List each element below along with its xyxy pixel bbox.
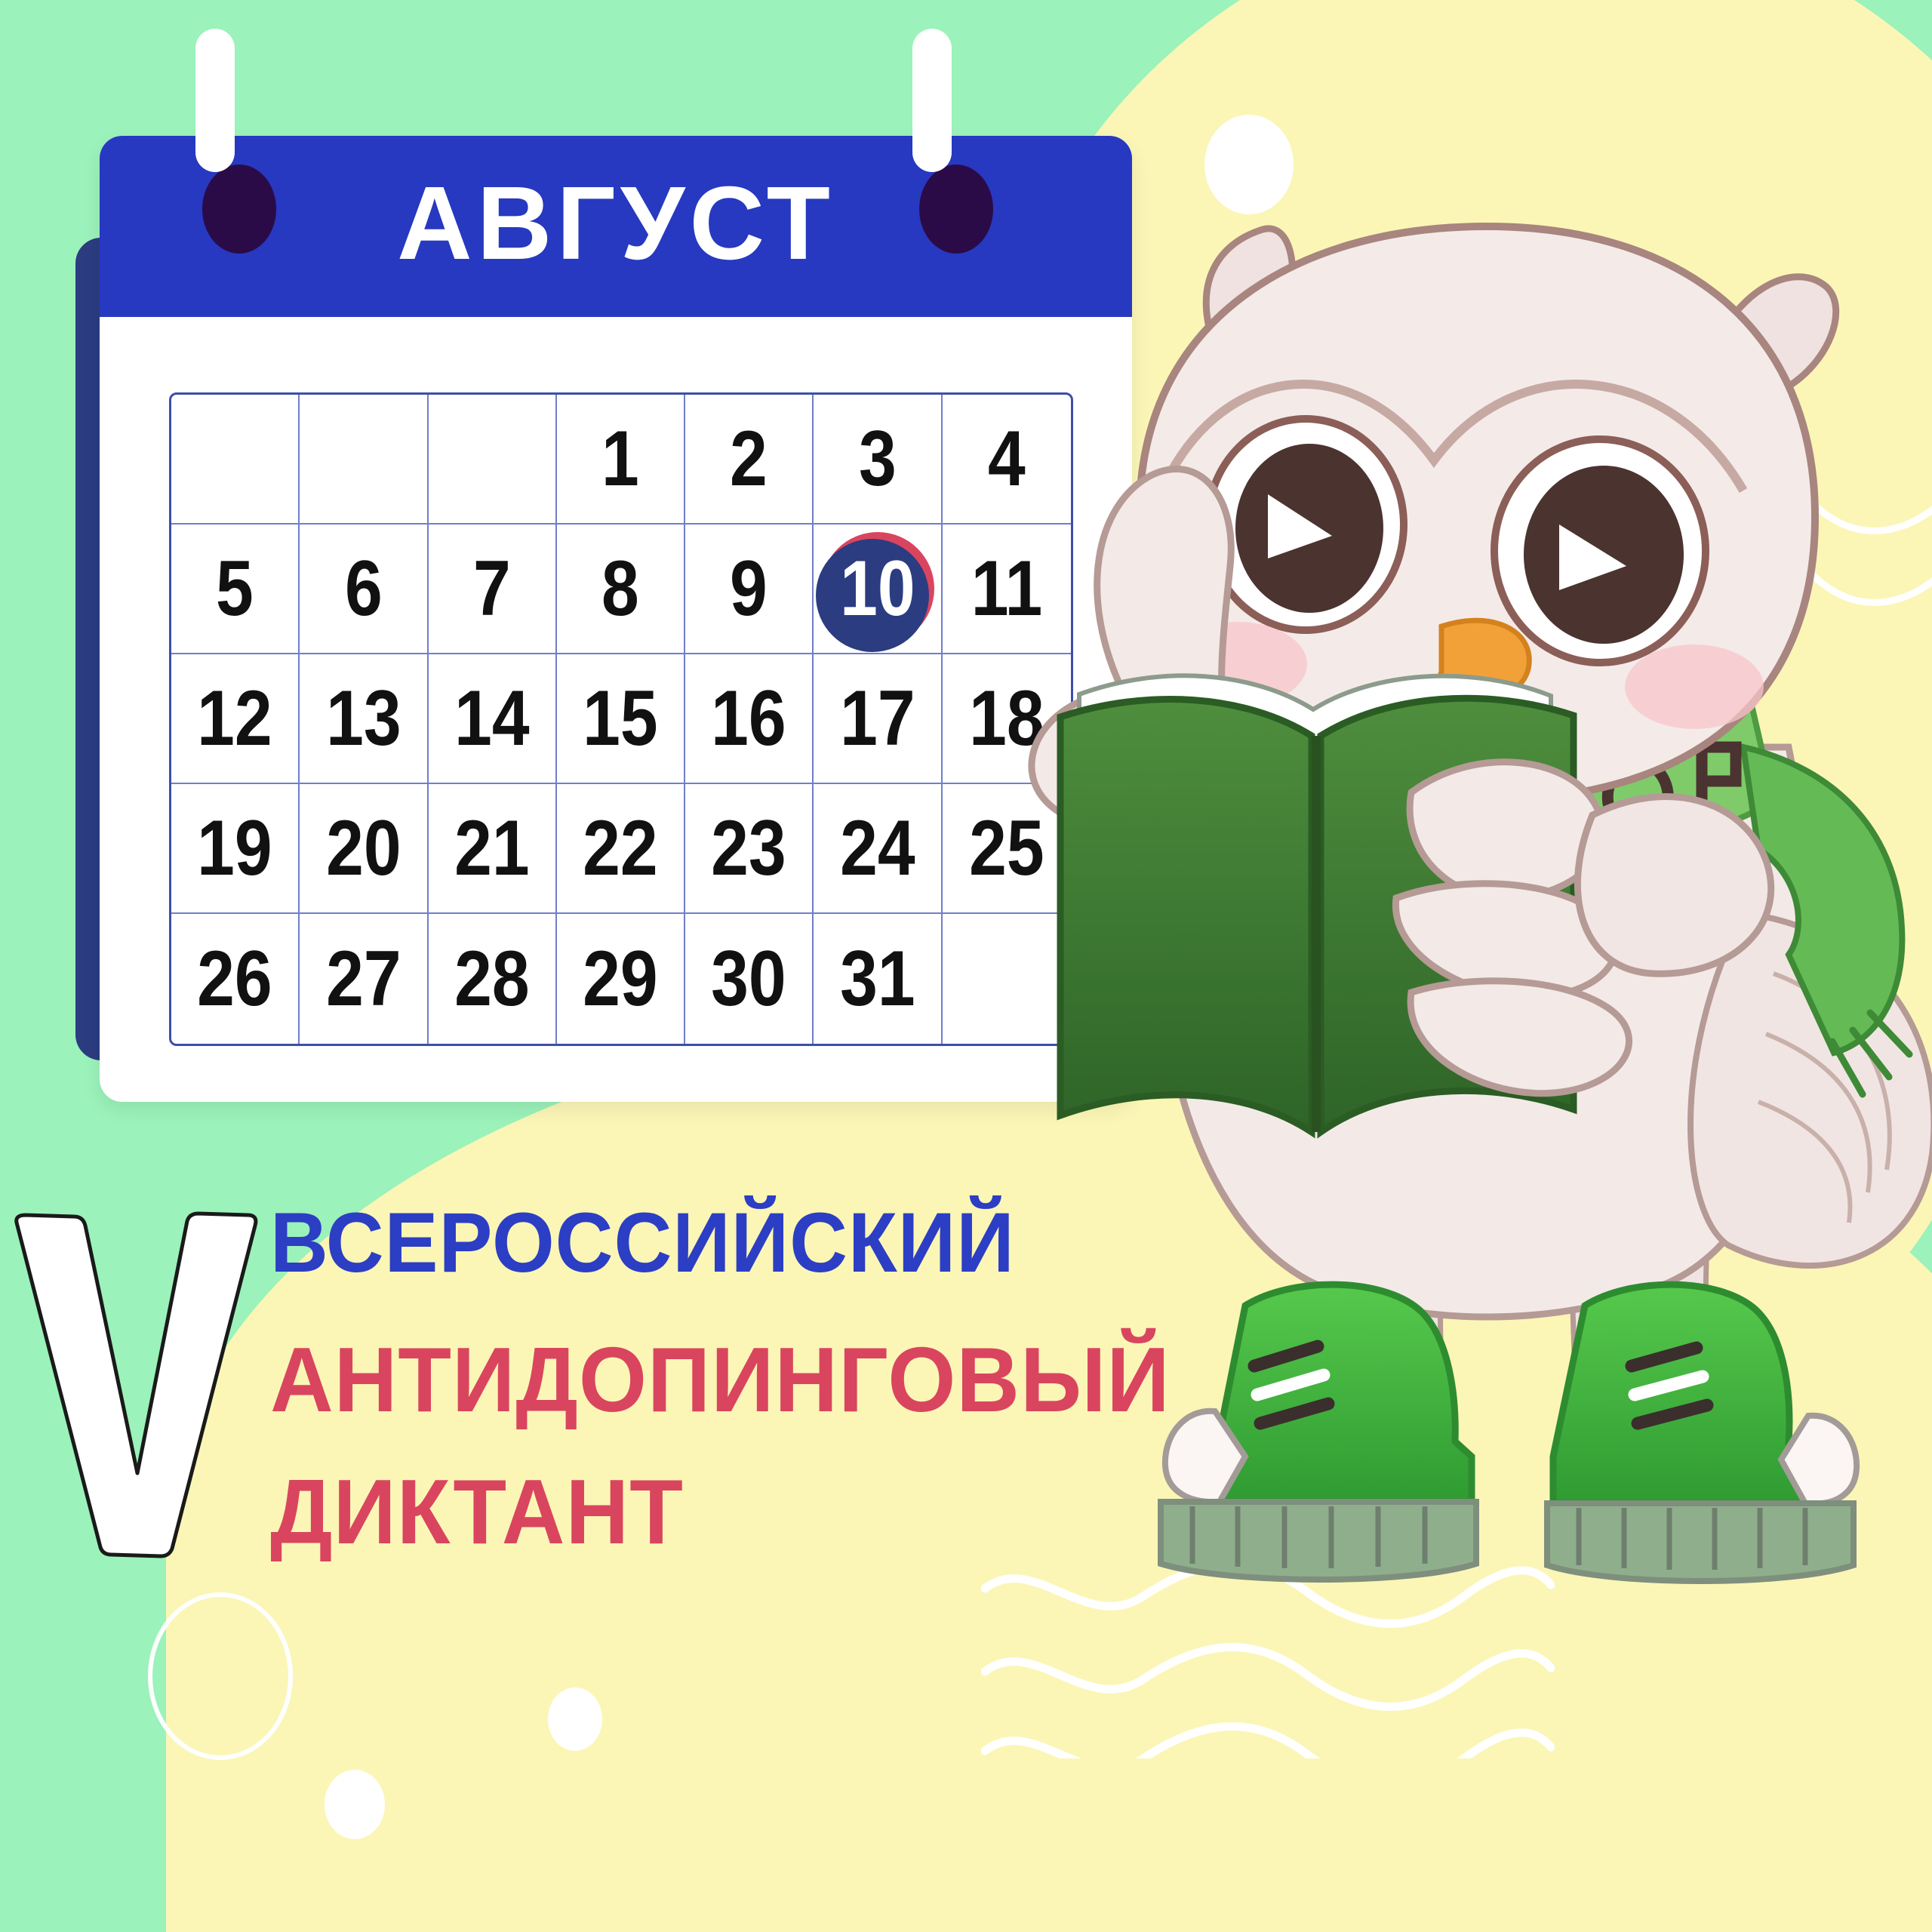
- owl-shoes: [1161, 1284, 1857, 1581]
- calendar-cell[interactable]: 6: [300, 525, 428, 654]
- day-number: 17: [840, 679, 915, 758]
- calendar-cell[interactable]: 1: [557, 395, 685, 525]
- calendar-body: АВГУСТ 1 2 3 4 5 6 7 8 9 10: [100, 136, 1132, 1102]
- day-number: 16: [712, 679, 786, 758]
- day-number: 3: [859, 420, 897, 498]
- day-number: 10: [840, 549, 915, 628]
- calendar-cell[interactable]: 28: [429, 914, 557, 1044]
- binder-ring-left: [195, 29, 235, 172]
- calendar-cell[interactable]: 3: [814, 395, 942, 525]
- day-number: 30: [712, 940, 786, 1018]
- decor-dot-bottom-left: [325, 1770, 385, 1839]
- calendar-cell-highlighted[interactable]: 10: [814, 525, 942, 654]
- calendar-cell[interactable]: 13: [300, 654, 428, 784]
- decor-dot-bottom-mid: [548, 1687, 602, 1751]
- day-number: 21: [454, 809, 529, 888]
- binder-hole-right: [919, 165, 993, 254]
- calendar-cell[interactable]: 21: [429, 784, 557, 914]
- day-number: 26: [197, 940, 272, 1018]
- calendar-cell[interactable]: 5: [171, 525, 300, 654]
- calendar-cell[interactable]: 17: [814, 654, 942, 784]
- day-number: 22: [583, 809, 657, 888]
- day-number: 1: [601, 420, 639, 498]
- calendar-cell[interactable]: 26: [171, 914, 300, 1044]
- roman-numeral-five: [8, 1207, 264, 1562]
- calendar-cell[interactable]: 20: [300, 784, 428, 914]
- day-number: 29: [583, 940, 657, 1018]
- calendar-cell[interactable]: [300, 395, 428, 525]
- day-number: 9: [730, 549, 768, 628]
- binder-ring-right: [912, 29, 952, 172]
- calendar-cell[interactable]: 14: [429, 654, 557, 784]
- headline-block: ВСЕРОССИЙСКИЙ АНТИДОПИНГОВЫЙ ДИКТАНТ: [270, 1200, 1221, 1558]
- decor-ring-bottom-left: [148, 1592, 293, 1760]
- day-number: 28: [454, 940, 529, 1018]
- day-number: 31: [840, 940, 915, 1018]
- calendar-cell[interactable]: 29: [557, 914, 685, 1044]
- calendar-cell[interactable]: [171, 395, 300, 525]
- calendar-cell[interactable]: 30: [685, 914, 814, 1044]
- day-number: 24: [840, 809, 915, 888]
- headline-line-1: ВСЕРОССИЙСКИЙ: [270, 1200, 1174, 1286]
- calendar-cell[interactable]: 24: [814, 784, 942, 914]
- calendar-cell[interactable]: 22: [557, 784, 685, 914]
- calendar-card: АВГУСТ 1 2 3 4 5 6 7 8 9 10: [75, 64, 1132, 1045]
- day-number: 20: [326, 809, 401, 888]
- day-number: 23: [712, 809, 786, 888]
- calendar-cell[interactable]: 27: [300, 914, 428, 1044]
- calendar-cell[interactable]: 2: [685, 395, 814, 525]
- day-number: 19: [197, 809, 272, 888]
- calendar-cell[interactable]: 31: [814, 914, 942, 1044]
- calendar-grid: 1 2 3 4 5 6 7 8 9 10 11 12 13 14 15: [169, 392, 1073, 1046]
- day-number: 6: [345, 549, 383, 628]
- calendar-cell[interactable]: 15: [557, 654, 685, 784]
- calendar-cell[interactable]: 9: [685, 525, 814, 654]
- calendar-header: АВГУСТ: [100, 136, 1132, 317]
- calendar-cell[interactable]: 12: [171, 654, 300, 784]
- headline-line-2: АНТИДОПИНГОВЫЙ: [270, 1333, 1174, 1426]
- calendar-cell[interactable]: 19: [171, 784, 300, 914]
- day-number: 27: [326, 940, 401, 1018]
- calendar-cell[interactable]: 16: [685, 654, 814, 784]
- headline-line-3: ДИКТАНТ: [270, 1465, 1174, 1558]
- calendar-cell[interactable]: [429, 395, 557, 525]
- calendar-month-label: АВГУСТ: [397, 171, 835, 275]
- day-number: 13: [326, 679, 401, 758]
- calendar-cell[interactable]: 23: [685, 784, 814, 914]
- owl-blush-right: [1625, 645, 1764, 729]
- poster-canvas: АВГУСТ 1 2 3 4 5 6 7 8 9 10: [0, 0, 1932, 1932]
- day-number: 5: [216, 549, 254, 628]
- day-number: 2: [730, 420, 768, 498]
- calendar-cell[interactable]: 7: [429, 525, 557, 654]
- day-number: 15: [583, 679, 657, 758]
- calendar-cell[interactable]: 8: [557, 525, 685, 654]
- day-number: 14: [454, 679, 529, 758]
- binder-hole-left: [202, 165, 276, 254]
- day-number: 12: [197, 679, 272, 758]
- day-number: 8: [601, 549, 639, 628]
- day-number: 7: [473, 549, 511, 628]
